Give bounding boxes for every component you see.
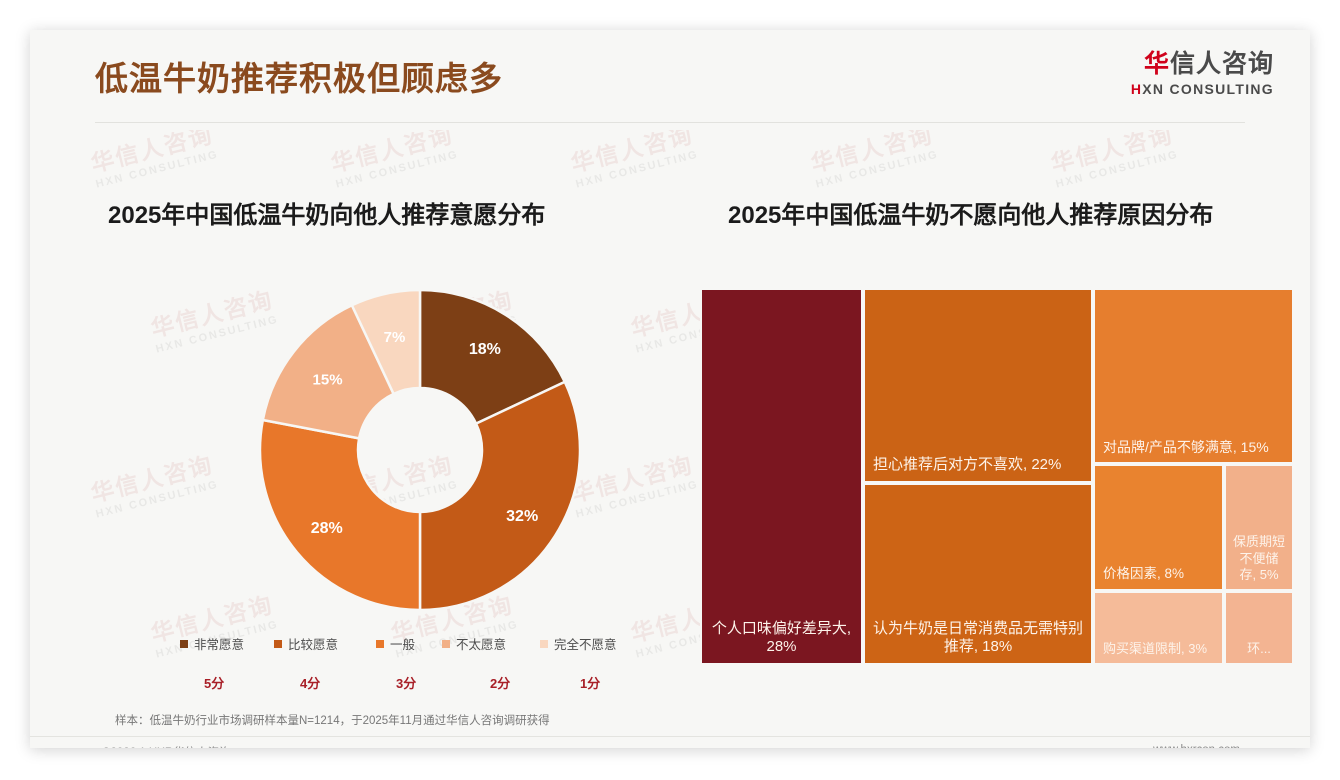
treemap-cell-label: 对品牌/产品不够满意, 15%	[1103, 439, 1284, 457]
right-chart-title: 2025年中国低温牛奶不愿向他人推荐原因分布	[728, 195, 1213, 230]
donut-svg: 18%32%28%15%7%	[260, 285, 580, 615]
page-title: 低温牛奶推荐积极但顾虑多	[95, 52, 503, 100]
treemap-cell-label: 认为牛奶是日常消费品无需特别推荐, 18%	[871, 620, 1085, 658]
watermark: 华信人咨询HXN CONSULTING	[86, 445, 220, 520]
donut-slice-label: 28%	[311, 520, 343, 537]
watermark: 华信人咨询HXN CONSULTING	[326, 130, 460, 191]
left-chart-title: 2025年中国低温牛奶向他人推荐意愿分布	[108, 195, 545, 230]
donut-slice[interactable]	[260, 420, 420, 610]
logo-hua-char: 华	[1144, 50, 1170, 78]
watermark: 华信人咨询HXN CONSULTING	[1046, 130, 1180, 191]
donut-slice-label: 18%	[469, 341, 501, 358]
score-label: 5分	[204, 673, 224, 692]
score-label: 3分	[396, 673, 416, 692]
treemap-cell-label: 个人口味偏好差异大, 28%	[708, 620, 855, 658]
company-logo: 华信人咨询 HXN CONSULTING	[1131, 52, 1274, 96]
treemap-cell[interactable]: 环...	[1224, 591, 1294, 665]
donut-chart: 18%32%28%15%7%	[260, 285, 580, 615]
treemap-chart: 个人口味偏好差异大, 28%担心推荐后对方不喜欢, 22%认为牛奶是日常消费品无…	[700, 288, 1294, 665]
legend-label: 非常愿意	[194, 634, 244, 653]
legend-label: 比较愿意	[288, 634, 338, 653]
treemap-cell[interactable]: 保质期短不便储存, 5%	[1224, 464, 1294, 591]
watermark: 华信人咨询HXN CONSULTING	[566, 445, 700, 520]
legend-swatch	[274, 640, 282, 648]
treemap-cell[interactable]: 对品牌/产品不够满意, 15%	[1093, 288, 1294, 464]
treemap-cell[interactable]: 价格因素, 8%	[1093, 464, 1224, 591]
legend-swatch	[376, 640, 384, 648]
treemap-cell[interactable]: 认为牛奶是日常消费品无需特别推荐, 18%	[863, 483, 1093, 665]
legend-swatch	[442, 640, 450, 648]
logo-chinese: 华信人咨询	[1131, 52, 1274, 77]
donut-slice[interactable]	[420, 382, 580, 610]
treemap-cell-label: 保质期短不便储存, 5%	[1232, 534, 1286, 583]
watermark: 华信人咨询HXN CONSULTING	[806, 130, 940, 191]
watermark: 华信人咨询HXN CONSULTING	[86, 130, 220, 191]
score-label: 4分	[300, 673, 320, 692]
legend-label: 不太愿意	[456, 634, 506, 653]
treemap-cell-label: 购买渠道限制, 3%	[1103, 641, 1214, 657]
treemap-cell[interactable]: 购买渠道限制, 3%	[1093, 591, 1224, 665]
logo-chinese-rest: 信人咨询	[1170, 50, 1274, 78]
donut-slice-label: 7%	[384, 329, 406, 346]
treemap-cell-label: 担心推荐后对方不喜欢, 22%	[873, 456, 1083, 475]
source-footnote: 样本：低温牛奶行业市场调研样本量N=1214，于2025年11月通过华信人咨询调…	[115, 712, 550, 728]
legend-item[interactable]: 完全不愿意	[540, 634, 617, 653]
footer-website: www.hxrcon.com	[1153, 744, 1240, 748]
legend-swatch	[540, 640, 548, 648]
slide: 低温牛奶推荐积极但顾虑多 华信人咨询 HXN CONSULTING 华信人咨询H…	[30, 30, 1310, 748]
logo-h-char: H	[1131, 81, 1142, 97]
score-label: 2分	[490, 673, 510, 692]
slide-header: 低温牛奶推荐积极但顾虑多 华信人咨询 HXN CONSULTING	[30, 30, 1310, 122]
donut-slice-label: 32%	[506, 508, 538, 525]
score-label: 1分	[580, 673, 600, 692]
treemap-cell[interactable]: 个人口味偏好差异大, 28%	[700, 288, 863, 665]
donut-slice-label: 15%	[313, 371, 343, 388]
logo-english-rest: XN CONSULTING	[1142, 81, 1274, 97]
score-labels-row: 5分4分3分2分1分	[180, 673, 650, 693]
treemap-cell-label: 环...	[1232, 641, 1286, 657]
legend-item[interactable]: 比较愿意	[274, 634, 338, 653]
legend-item[interactable]: 不太愿意	[442, 634, 506, 653]
legend-swatch	[180, 640, 188, 648]
header-divider	[95, 122, 1245, 123]
footer-copyright: ©2026.1 HXR华信人咨询	[102, 744, 231, 748]
legend-item[interactable]: 非常愿意	[180, 634, 244, 653]
watermark: 华信人咨询HXN CONSULTING	[566, 130, 700, 191]
legend-item[interactable]: 一般	[376, 634, 415, 653]
legend-label: 完全不愿意	[554, 634, 617, 653]
logo-english: HXN CONSULTING	[1131, 82, 1274, 96]
treemap-cell-label: 价格因素, 8%	[1103, 566, 1214, 583]
donut-legend: 非常愿意比较愿意一般不太愿意完全不愿意	[180, 634, 650, 654]
legend-label: 一般	[390, 634, 415, 653]
footer-divider	[30, 736, 1310, 737]
treemap-cell[interactable]: 担心推荐后对方不喜欢, 22%	[863, 288, 1093, 483]
